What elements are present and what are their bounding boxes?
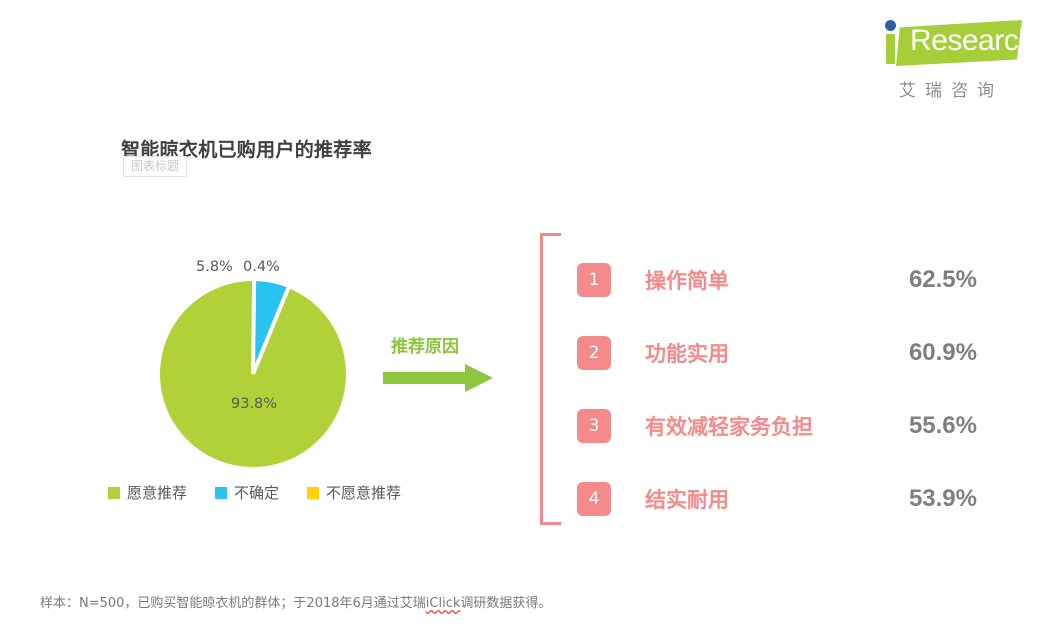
pie-label-undecided: 5.8% (196, 259, 233, 275)
legend-swatch-icon-undecided (215, 487, 227, 499)
footnote-misspelled-term: iClick (426, 596, 461, 611)
legend-label-undecided: 不确定 (234, 482, 279, 503)
legend-item-willing[interactable]: 愿意推荐 (108, 482, 187, 503)
iresearch-logo: Research 艾瑞咨询 (872, 14, 1022, 104)
pie-label-unwilling: 0.4% (243, 259, 280, 275)
footnote: 样本：N=500，已购买智能晾衣机的群体；于2018年6月通过艾瑞iClick调… (40, 592, 551, 611)
rank-badge: 2 (577, 336, 611, 370)
logo-letter-i-stem (886, 34, 895, 64)
legend-item-undecided[interactable]: 不确定 (215, 482, 279, 503)
list-item[interactable]: 1 操作简单 62.5% (577, 243, 977, 316)
reason-label: 功能实用 (645, 338, 729, 368)
logo-mark: Research (872, 14, 1022, 72)
logo-letter-i-dot-icon (885, 20, 896, 31)
reason-value: 53.9% (909, 485, 977, 513)
pie-chart (160, 281, 346, 467)
right-arrow-icon (383, 364, 493, 392)
reasons-list: 1 操作简单 62.5% 2 功能实用 60.9% 3 有效减轻家务负担 55.… (577, 243, 977, 535)
reason-value: 60.9% (909, 339, 977, 367)
list-item[interactable]: 2 功能实用 60.9% (577, 316, 977, 389)
pie-legend: 愿意推荐 不确定 不愿意推荐 (108, 482, 401, 503)
logo-chinese-name: 艾瑞咨询 (880, 76, 1022, 101)
legend-label-willing: 愿意推荐 (127, 482, 187, 503)
pie-label-willing: 93.8% (231, 396, 277, 412)
footnote-text-before: 样本：N=500，已购买智能晾衣机的群体；于2018年6月通过艾瑞 (40, 596, 426, 611)
footnote-text-after: 调研数据获得。 (460, 596, 551, 611)
legend-label-unwilling: 不愿意推荐 (326, 482, 401, 503)
legend-item-unwilling[interactable]: 不愿意推荐 (307, 482, 401, 503)
chart-title-placeholder[interactable]: 图表标题 (123, 156, 187, 177)
reason-value: 62.5% (909, 266, 977, 294)
rank-badge: 4 (577, 482, 611, 516)
reason-label: 有效减轻家务负担 (645, 411, 813, 441)
list-item[interactable]: 3 有效减轻家务负担 55.6% (577, 389, 977, 462)
logo-wordmark: Research (910, 24, 1034, 58)
reason-label: 结实耐用 (645, 484, 729, 514)
reasons-bracket (540, 233, 561, 525)
legend-swatch-icon-willing (108, 487, 120, 499)
arrow-head (465, 364, 493, 392)
reason-label: 操作简单 (645, 265, 729, 295)
reason-value: 55.6% (909, 412, 977, 440)
rank-badge: 1 (577, 263, 611, 297)
arrow-shaft (383, 372, 467, 384)
rank-badge: 3 (577, 409, 611, 443)
list-item[interactable]: 4 结实耐用 53.9% (577, 462, 977, 535)
arrow-label-recommendation-reasons: 推荐原因 (391, 332, 459, 357)
legend-swatch-icon-unwilling (307, 487, 319, 499)
